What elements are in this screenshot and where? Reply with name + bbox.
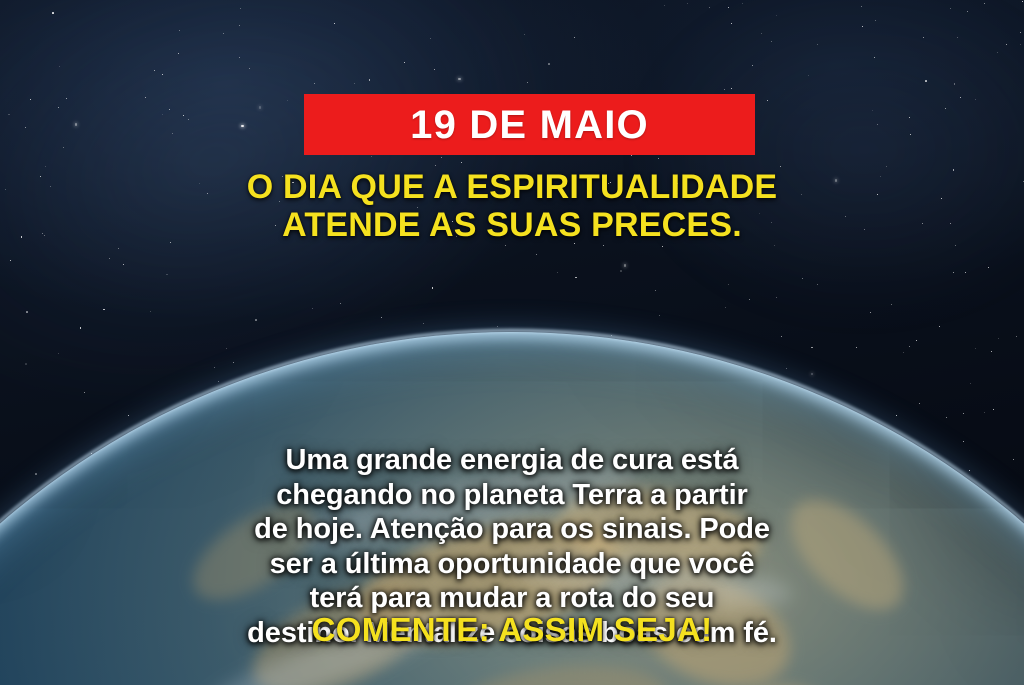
body-line-2: chegando no planeta Terra a partir [0,478,1024,513]
body-line-3: de hoje. Atenção para os sinais. Pode [0,512,1024,547]
headline: O DIA QUE A ESPIRITUALIDADE ATENDE AS SU… [0,168,1024,245]
headline-line-2: ATENDE AS SUAS PRECES. [0,206,1024,244]
text-overlay: 19 DE MAIO O DIA QUE A ESPIRITUALIDADE A… [0,0,1024,685]
poster-canvas: 19 DE MAIO O DIA QUE A ESPIRITUALIDADE A… [0,0,1024,685]
date-banner: 19 DE MAIO [304,94,755,155]
call-to-action: COMENTE: ASSIM SEJA! [0,613,1024,646]
body-line-1: Uma grande energia de cura está [0,443,1024,478]
call-to-action-label: COMENTE: ASSIM SEJA! [312,611,713,648]
body-line-4: ser a última oportunidade que você [0,547,1024,582]
headline-line-1: O DIA QUE A ESPIRITUALIDADE [0,168,1024,206]
date-banner-label: 19 DE MAIO [410,105,649,145]
